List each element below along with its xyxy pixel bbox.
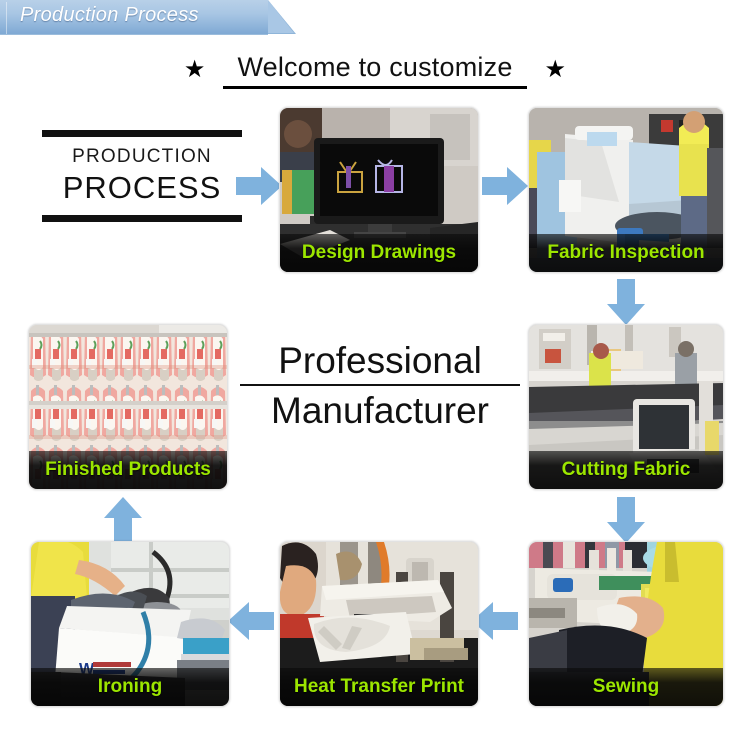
step-card-fabric-inspection[interactable]: Fabric Inspection [528,107,724,273]
step-card-finished-products[interactable]: Finished Products [28,324,228,490]
process-word: PROCESS [42,170,242,206]
rule-bottom [42,215,242,222]
caption-heat-transfer-print: Heat Transfer Print [280,668,478,706]
star-icon-right: ★ [545,58,567,82]
star-icon-left: ★ [184,58,206,82]
step-card-cutting-fabric[interactable]: Cutting Fabric [528,324,724,490]
arrow-to-fabric-inspection [482,163,528,209]
caption-cutting-fabric: Cutting Fabric [529,451,723,489]
production-process-logo: PRODUCTION PROCESS [42,130,242,222]
step-card-ironing[interactable]: W Ironing [30,541,230,707]
rule-top [42,130,242,137]
caption-label: Heat Transfer Print [294,676,464,698]
arrow-to-ironing [228,598,274,644]
step-card-design-drawings[interactable]: Design Drawings [279,107,479,273]
arrow-to-cutting-fabric [603,279,649,325]
step-card-heat-transfer-print[interactable]: Heat Transfer Print [279,541,479,707]
step-card-sewing[interactable]: Sewing [528,541,724,707]
professional-manufacturer-text: Professional Manufacturer [240,340,520,433]
header-tab-slant [268,0,294,33]
caption-finished-products: Finished Products [29,451,227,489]
caption-label: Cutting Fabric [562,459,691,481]
welcome-text: Welcome to customize [223,52,526,89]
caption-fabric-inspection: Fabric Inspection [529,234,723,272]
caption-sewing: Sewing [529,668,723,706]
arrow-to-sewing [603,497,649,543]
arrow-to-finished-products [100,497,146,543]
caption-design-drawings: Design Drawings [280,234,478,272]
header-tab: Production Process [0,0,268,35]
professional-word: Professional [240,340,520,386]
production-word: PRODUCTION [42,146,242,168]
arrow-to-design-drawings [236,163,282,209]
page-title: Production Process [20,4,199,27]
caption-label: Fabric Inspection [547,242,704,264]
caption-label: Sewing [593,676,660,698]
caption-label: Finished Products [45,459,211,481]
caption-label: Design Drawings [302,242,456,264]
caption-label: Ironing [98,676,162,698]
welcome-banner: ★ Welcome to customize ★ [0,48,750,92]
caption-ironing: Ironing [31,668,229,706]
manufacturer-word: Manufacturer [240,386,520,433]
header-tab-edge [6,2,7,34]
